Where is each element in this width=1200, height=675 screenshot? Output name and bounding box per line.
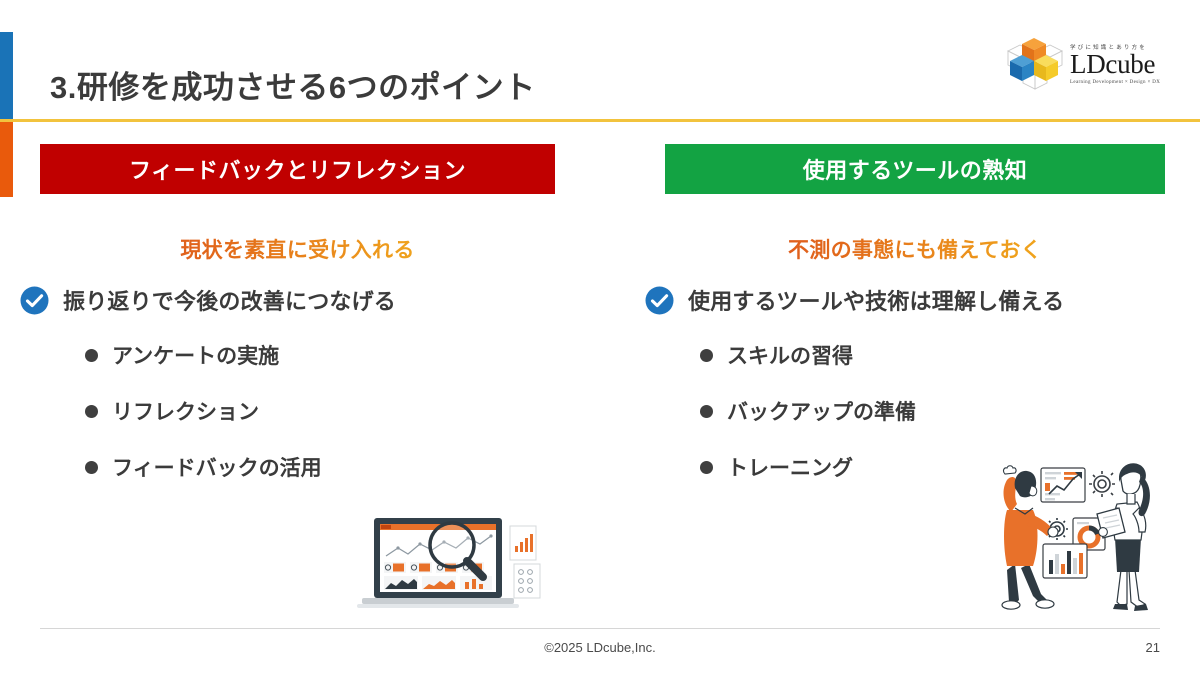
bullet-dot-icon (700, 349, 713, 362)
title-divider-rule (0, 119, 1200, 122)
logo-tagline-bottom: Learning Development × Design × DX (1070, 80, 1160, 85)
footer-page-number: 21 (1146, 640, 1160, 655)
bullet-dot-icon (700, 405, 713, 418)
accent-bar-blue (0, 32, 13, 120)
list-item: フィードバックの活用 (85, 452, 555, 482)
two-people-analytics-illustration (985, 452, 1160, 624)
column-banner-tools: 使用するツールの熟知 (665, 144, 1165, 194)
footer-copyright: ©2025 LDcube,Inc. (0, 640, 1200, 655)
bullet-dot-icon (700, 461, 713, 474)
bullet-dot-icon (85, 349, 98, 362)
check-row-label-tools: 使用するツールや技術は理解し備える (688, 284, 1064, 316)
logo-wordmark: LDcube (1070, 52, 1160, 78)
slide-canvas: 3.研修を成功させる6つのポイント (0, 0, 1200, 675)
list-item: バックアップの準備 (700, 396, 1165, 426)
accent-bar-orange (0, 122, 13, 197)
column-feedback: フィードバックとリフレクション 現状を素直に受け入れる 振り返りで今後の改善につ… (40, 144, 555, 508)
bullet-dot-icon (85, 461, 98, 474)
brand-logo: 学びに知識とあり方を LDcube Learning Development ×… (1004, 33, 1172, 95)
list-item: アンケートの実施 (85, 340, 555, 370)
list-item-label: フィードバックの活用 (112, 452, 322, 482)
list-item: スキルの習得 (700, 340, 1165, 370)
list-item-label: スキルの習得 (727, 340, 853, 370)
check-row-label-feedback: 振り返りで今後の改善につなげる (63, 284, 396, 316)
sub-list-feedback: アンケートの実施 リフレクション フィードバックの活用 (40, 340, 555, 482)
column-banner-feedback: フィードバックとリフレクション (40, 144, 555, 194)
cube-logo-icon (1004, 35, 1064, 93)
check-row-tools: 使用するツールや技術は理解し備える (645, 284, 1165, 316)
logo-text-block: 学びに知識とあり方を LDcube Learning Development ×… (1070, 43, 1160, 85)
footer-divider (40, 628, 1160, 629)
column-subheading-tools: 不測の事態にも備えておく (665, 234, 1165, 264)
check-circle-icon (20, 286, 49, 315)
list-item: リフレクション (85, 396, 555, 426)
check-circle-icon (645, 286, 674, 315)
list-item-label: アンケートの実施 (112, 340, 279, 370)
check-row-feedback: 振り返りで今後の改善につなげる (20, 284, 555, 316)
column-subheading-feedback: 現状を素直に受け入れる (40, 234, 555, 264)
bullet-dot-icon (85, 405, 98, 418)
page-title: 3.研修を成功させる6つのポイント (50, 62, 536, 107)
list-item-label: バックアップの準備 (727, 396, 916, 426)
list-item-label: リフレクション (112, 396, 259, 426)
laptop-dashboard-magnifier-illustration (352, 500, 567, 620)
list-item-label: トレーニング (727, 452, 853, 482)
